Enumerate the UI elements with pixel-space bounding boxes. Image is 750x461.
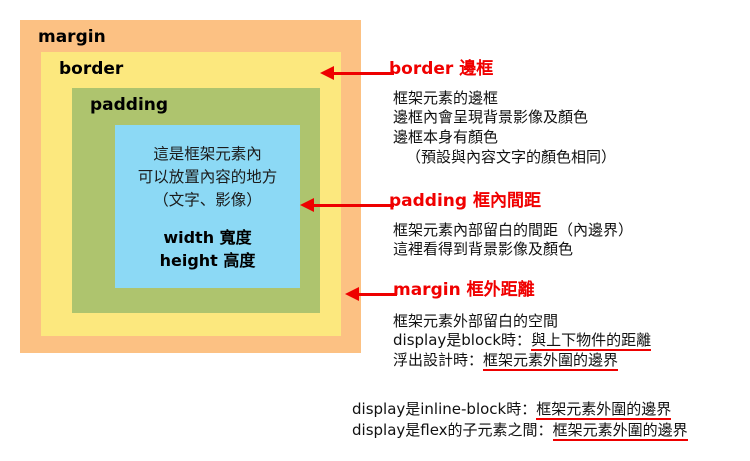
margin-annotation-line-3: 浮出設計時：框架元素外圍的邊界 <box>393 351 651 371</box>
arrow-shaft <box>357 293 397 296</box>
display-mode-notes: display是inline-block時：框架元素外圍的邊界 display是… <box>352 399 688 441</box>
border-annotation-line-3: 邊框本身有顏色 <box>393 128 616 148</box>
margin-annotation: margin 框外距離 框架元素外部留白的空間 display是block時：與… <box>393 281 651 371</box>
arrow-shaft <box>312 204 394 207</box>
padding-annotation-line-1: 框架元素內部留白的間距（內邊界） <box>393 221 633 241</box>
width-dimension-label: width 寬度 <box>115 226 300 249</box>
margin-box-region: margin border padding 這是框架元素內 可以放置內容的地方 … <box>20 20 361 353</box>
border-annotation-line-1: 框架元素的邊框 <box>393 89 616 109</box>
arrow-shaft <box>332 72 394 75</box>
margin-annotation-body: 框架元素外部留白的空間 display是block時：與上下物件的距離 浮出設計… <box>393 312 651 371</box>
border-annotation-heading: border 邊框 <box>389 60 616 80</box>
content-description-line-1: 這是框架元素內 <box>115 143 300 166</box>
margin-box-label: margin <box>38 29 106 46</box>
margin-line-2-underlined: 與上下物件的距離 <box>531 331 651 351</box>
margin-line-3-prefix: 浮出設計時： <box>393 351 483 369</box>
content-box-description: 這是框架元素內 可以放置內容的地方 （文字、影像） <box>115 143 300 212</box>
content-description-line-3: （文字、影像） <box>115 189 300 212</box>
flex-note-underlined: 框架元素外圍的邊界 <box>553 421 688 441</box>
margin-line-2-prefix: display是block時： <box>393 331 531 349</box>
padding-annotation-body: 框架元素內部留白的間距（內邊界） 這裡看得到背景影像及顏色 <box>389 221 633 261</box>
inline-block-note-prefix: display是inline-block時： <box>352 400 536 418</box>
border-box-region: border padding 這是框架元素內 可以放置內容的地方 （文字、影像）… <box>41 52 341 336</box>
border-annotation-line-2: 邊框內會呈現背景影像及顏色 <box>393 108 616 128</box>
margin-annotation-line-2: display是block時：與上下物件的距離 <box>393 331 651 351</box>
display-inline-block-note: display是inline-block時：框架元素外圍的邊界 <box>352 399 688 420</box>
inline-block-note-underlined: 框架元素外圍的邊界 <box>536 400 671 420</box>
margin-annotation-heading: margin 框外距離 <box>393 281 651 301</box>
border-annotation-body: 框架元素的邊框 邊框內會呈現背景影像及顏色 邊框本身有顏色 （預設與內容文字的顏… <box>389 89 616 168</box>
border-annotation-line-4: （預設與內容文字的顏色相同） <box>393 148 616 168</box>
padding-annotation-line-2: 這裡看得到背景影像及顏色 <box>393 240 633 260</box>
content-box-dimensions: width 寬度 height 高度 <box>115 226 300 272</box>
display-flex-note: display是flex的子元素之間：框架元素外圍的邊界 <box>352 420 688 441</box>
flex-note-prefix: display是flex的子元素之間： <box>352 421 553 439</box>
height-dimension-label: height 高度 <box>115 249 300 272</box>
padding-annotation-heading: padding 框內間距 <box>389 192 633 212</box>
padding-box-label: padding <box>90 97 168 114</box>
content-description-line-2: 可以放置內容的地方 <box>115 166 300 189</box>
content-box-region: 這是框架元素內 可以放置內容的地方 （文字、影像） width 寬度 heigh… <box>115 125 300 288</box>
margin-annotation-line-1: 框架元素外部留白的空間 <box>393 312 651 332</box>
padding-annotation: padding 框內間距 框架元素內部留白的間距（內邊界） 這裡看得到背景影像及… <box>389 192 633 260</box>
border-annotation: border 邊框 框架元素的邊框 邊框內會呈現背景影像及顏色 邊框本身有顏色 … <box>389 60 616 168</box>
border-box-label: border <box>59 61 123 78</box>
padding-box-region: padding 這是框架元素內 可以放置內容的地方 （文字、影像） width … <box>72 88 320 313</box>
margin-line-3-underlined: 框架元素外圍的邊界 <box>483 351 618 371</box>
diagram-canvas: margin border padding 這是框架元素內 可以放置內容的地方 … <box>0 0 750 461</box>
